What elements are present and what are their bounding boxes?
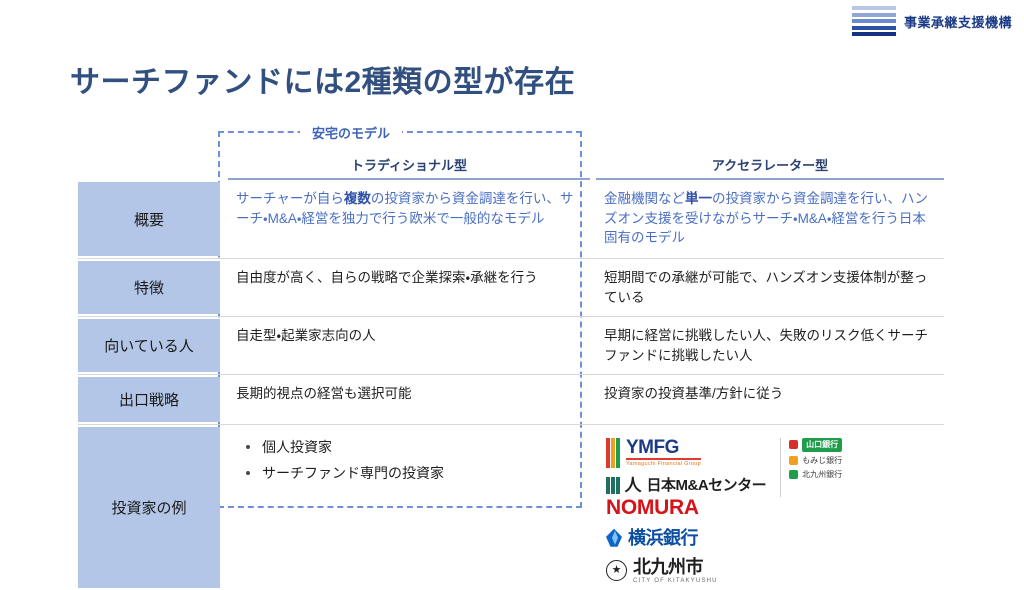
ymfg-logo-label: YMFG: [626, 438, 701, 457]
row-gap: [220, 180, 228, 258]
kitakyushu-bank-label: 北九州銀行: [802, 469, 842, 481]
kitakyushu-bank-icon: [789, 470, 798, 479]
yokohama-bank-label: 横浜銀行: [628, 525, 698, 551]
cell-features-accelerator: 短期間での承継が可能で、ハンズオン支援体制が整っている: [596, 259, 944, 316]
column-header-accelerator: アクセラレーター型: [596, 155, 944, 180]
table-row: 特徴 自由度が高く、自らの戦略で企業探索・承継を行う 短期間での承継が可能で、ハ…: [78, 259, 944, 317]
yamaguchi-bank-label: 山口銀行: [802, 438, 842, 452]
column-header-traditional: トラディショナル型: [228, 155, 590, 180]
cell-text-emphasis: 複数: [344, 191, 371, 206]
table-row: 概要 サーチャーが自ら複数の投資家から資金調達を行い、サーチ・M&A・経営を独力…: [78, 180, 944, 259]
cell-investors-traditional: 個人投資家 サーチファンド専門の投資家: [228, 425, 586, 590]
list-item: サーチファンド専門の投資家: [244, 463, 576, 483]
nihon-ma-center-logo: 人 日本M&Aセンター: [606, 475, 766, 497]
slide-canvas: 事業承継支援機構 サーチファンドには2種類の型が存在 安宅のモデル トラディショ…: [0, 0, 1024, 536]
table-row: 投資家の例 個人投資家 サーチファンド専門の投資家 YMFG: [78, 425, 944, 590]
city-of-kitakyushu-icon: ★: [606, 560, 627, 581]
cell-exit-traditional: 長期的視点の経営も選択可能: [228, 375, 586, 424]
city-of-kitakyushu-sublabel: CITY OF KITAKYUSHU: [633, 578, 718, 584]
nomura-logo: NOMURA: [606, 497, 718, 518]
nihon-ma-center-glyph: 人: [625, 477, 642, 494]
row-label-exit-strategy: 出口戦略: [78, 377, 220, 422]
cell-suitable-traditional: 自走型・起業家志向の人: [228, 317, 586, 374]
stacked-bars-logo-icon: [852, 6, 896, 36]
nihon-ma-center-label: 日本M&Aセンター: [647, 475, 767, 497]
row-label-investor-examples: 投資家の例: [78, 427, 220, 588]
cell-text-pre: サーチャーが自ら: [236, 191, 344, 206]
org-logo: 事業承継支援機構: [852, 6, 1012, 36]
row-label-features: 特徴: [78, 261, 220, 314]
row-gap: [220, 375, 228, 424]
investor-bullet-list: 個人投資家 サーチファンド専門の投資家: [236, 437, 576, 484]
logo-group-right: NOMURA 横浜銀行 ★ 北九州市 CITY OF KITAKYUSHU: [606, 497, 718, 584]
ymfg-icon: [606, 438, 621, 468]
row-gap: [220, 259, 228, 316]
nihon-ma-center-icon: [606, 477, 620, 494]
ymfg-logo: YMFG Yamaguchi Financial Group: [606, 438, 766, 468]
row-label-overview: 概要: [78, 182, 220, 256]
row-gap: [220, 425, 228, 590]
highlight-frame-label: 安宅のモデル: [300, 123, 402, 142]
kitakyushu-bank-logo: 北九州銀行: [789, 469, 842, 481]
momiji-bank-logo: もみじ銀行: [789, 455, 842, 467]
ymfg-rule: [626, 458, 701, 460]
table-header-row: トラディショナル型 アクセラレーター型: [78, 155, 944, 180]
row-label-suitable-people: 向いている人: [78, 319, 220, 372]
list-item: 個人投資家: [244, 437, 576, 457]
logo-group-yamaguchi-banks: 山口銀行 もみじ銀行 北九州銀行: [780, 438, 842, 497]
yokohama-bank-icon: [606, 529, 622, 547]
cell-investors-accelerator: YMFG Yamaguchi Financial Group 人 日本M&Aセン…: [596, 425, 944, 590]
cell-exit-accelerator: 投資家の投資基準/方針に従う: [596, 375, 944, 424]
ymfg-logo-sublabel: Yamaguchi Financial Group: [626, 462, 701, 468]
page-title: サーチファンドには2種類の型が存在: [70, 57, 575, 101]
cell-suitable-accelerator: 早期に経営に挑戦したい人、失敗のリスク低くサーチファンドに挑戦したい人: [596, 317, 944, 374]
table-row: 出口戦略 長期的視点の経営も選択可能 投資家の投資基準/方針に従う: [78, 375, 944, 425]
org-logo-label: 事業承継支援機構: [904, 12, 1012, 31]
yamaguchi-bank-icon: [789, 440, 798, 449]
city-of-kitakyushu-logo: ★ 北九州市 CITY OF KITAKYUSHU: [606, 558, 718, 584]
row-gap: [220, 317, 228, 374]
cell-overview-accelerator: 金融機関など単一の投資家から資金調達を行い、ハンズオン支援を受けながらサーチ・M…: [596, 180, 944, 258]
cell-overview-traditional: サーチャーが自ら複数の投資家から資金調達を行い、サーチ・M&A・経営を独力で行う…: [228, 180, 586, 258]
comparison-table: トラディショナル型 アクセラレーター型 概要 サーチャーが自ら複数の投資家から資…: [78, 155, 944, 590]
table-row: 向いている人 自走型・起業家志向の人 早期に経営に挑戦したい人、失敗のリスク低く…: [78, 317, 944, 375]
logo-group-left: YMFG Yamaguchi Financial Group 人 日本M&Aセン…: [606, 438, 766, 497]
yokohama-bank-logo: 横浜銀行: [606, 525, 718, 551]
partner-logo-wall: YMFG Yamaguchi Financial Group 人 日本M&Aセン…: [604, 434, 934, 584]
city-of-kitakyushu-label: 北九州市: [633, 557, 703, 577]
header-corner-spacer: [78, 155, 224, 180]
momiji-bank-icon: [789, 456, 798, 465]
city-of-kitakyushu-text: 北九州市 CITY OF KITAKYUSHU: [633, 558, 718, 584]
yamaguchi-bank-logo: 山口銀行: [789, 438, 842, 452]
ymfg-logo-text: YMFG Yamaguchi Financial Group: [626, 438, 701, 468]
cell-text-emphasis: 単一: [685, 191, 712, 206]
cell-text-pre: 金融機関など: [604, 191, 685, 206]
cell-features-traditional: 自由度が高く、自らの戦略で企業探索・承継を行う: [228, 259, 586, 316]
momiji-bank-label: もみじ銀行: [802, 455, 842, 467]
